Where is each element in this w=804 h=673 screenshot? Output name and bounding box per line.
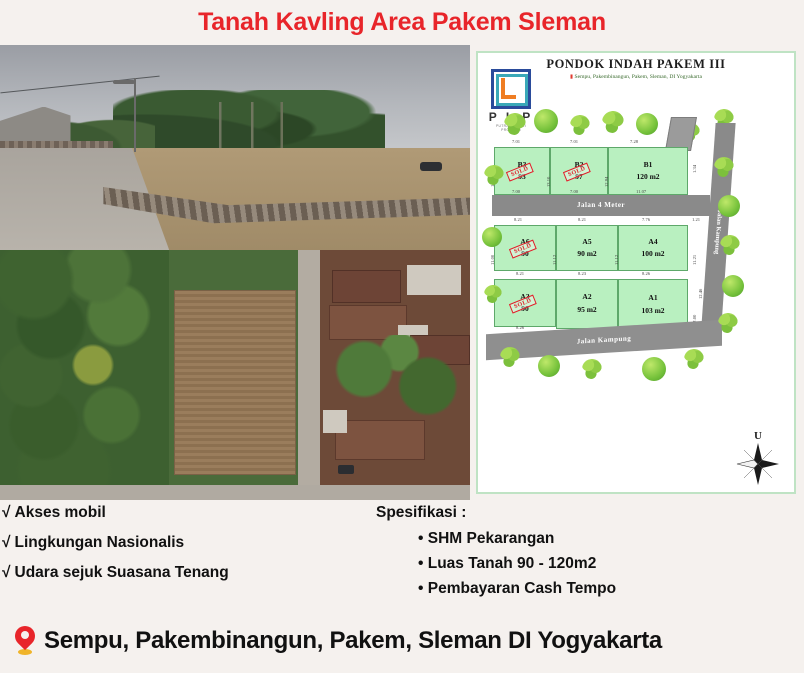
aerial-tree-canopy — [0, 250, 169, 500]
tree-icon — [482, 227, 502, 247]
dim-top-3: 7.28 — [630, 139, 638, 144]
tree-icon — [538, 355, 560, 377]
road-jalan-4-meter-label: Jalan 4 Meter — [492, 195, 710, 216]
aerial-land-plot — [174, 290, 296, 475]
specifications-block: Spesifikasi : • SHM Pekarangan • Luas Ta… — [372, 500, 804, 608]
dim-b-bottom-3: 11.07 — [636, 189, 646, 194]
dim-a-bottom-2: 8.23 — [578, 271, 586, 276]
street-lamp-arm — [113, 80, 135, 84]
tree-icon — [484, 165, 504, 185]
tree-icon — [636, 113, 658, 135]
tree-icon — [582, 359, 602, 379]
plot-b1-area: 120 m2 — [609, 172, 687, 181]
road-jalan-4-meter: Jalan 4 Meter — [492, 195, 710, 216]
house-roof — [332, 270, 401, 303]
check-icon: √ — [2, 564, 11, 581]
parked-car — [420, 162, 442, 171]
tree-icon — [570, 115, 590, 135]
land-ground-view-photo — [0, 45, 470, 250]
existing-building — [665, 117, 697, 151]
siteplan-plot-layout: 7.01 7.01 7.28 B3 93 SOLD B2 97 SOLD B1 … — [486, 99, 786, 482]
page-title-bar: Tanah Kavling Area Pakem Sleman — [0, 0, 804, 45]
road-jalan-kampung-right: Jalan Kampung — [700, 123, 735, 341]
plot-b1[interactable]: B1 120 m2 — [608, 147, 688, 195]
plot-a1-area: 103 m2 — [619, 306, 687, 315]
feature-label: Akses mobil — [15, 504, 106, 521]
dim-a-bottom-3: 8.26 — [642, 271, 650, 276]
feature-item: √Akses mobil — [2, 504, 372, 522]
plot-b2[interactable]: B2 97 SOLD — [550, 147, 608, 195]
tree-icon — [500, 347, 520, 367]
dim-b-side-3: 12.94 — [604, 177, 609, 187]
dim-a-mid-1: 11.00 — [490, 255, 495, 265]
plot-a5-area: 90 m2 — [557, 249, 617, 258]
plot-a5-code: A5 — [557, 237, 617, 246]
dim-top-1: 7.01 — [512, 139, 520, 144]
aerial-garden-vegetation — [329, 335, 470, 420]
compass-rose: U — [732, 430, 784, 486]
plot-a2[interactable]: A2 95 m2 — [556, 279, 618, 329]
aerial-village-road — [298, 250, 322, 500]
features-list: √Akses mobil √Lingkungan Nasionalis √Uda… — [0, 500, 372, 608]
plot-a2-code: A2 — [557, 292, 617, 301]
spec-item: • SHM Pekarangan — [418, 530, 804, 548]
dim-a-top-1: 8.21 — [514, 217, 522, 222]
dim-a-mid-4: 11.21 — [692, 255, 697, 265]
spec-label: Pembayaran Cash Tempo — [428, 580, 616, 597]
page-title: Tanah Kavling Area Pakem Sleman — [198, 8, 606, 37]
dim-b-side-4: 1.34 — [692, 165, 697, 173]
dim-a-bottom-1: 8.21 — [516, 271, 524, 276]
check-icon: √ — [2, 504, 11, 521]
spec-label: Luas Tanah 90 - 120m2 — [428, 555, 597, 572]
dim-b-side-2: 13.10 — [546, 177, 551, 187]
main-content: PONDOK INDAH PAKEM III ▮ Sempu, Pakembin… — [0, 45, 804, 500]
feature-item: √Lingkungan Nasionalis — [2, 534, 372, 552]
siteplan-panel: PONDOK INDAH PAKEM III ▮ Sempu, Pakembin… — [470, 45, 804, 500]
pin-hole — [21, 631, 29, 639]
dim-a-top-3: 7.76 — [642, 217, 650, 222]
dim-top-2: 7.01 — [570, 139, 578, 144]
plot-a3[interactable]: A3 90 SOLD — [494, 279, 556, 327]
house-roof — [407, 265, 461, 295]
check-icon: √ — [2, 534, 11, 551]
tree-icon — [484, 285, 502, 303]
house-roof — [335, 420, 425, 460]
plot-a5[interactable]: A5 90 m2 — [556, 225, 618, 271]
bullet-icon: • — [418, 555, 423, 572]
tree-icon — [718, 313, 738, 333]
dim-a-right-2: 12.46 — [698, 289, 703, 299]
tree-icon — [534, 109, 558, 133]
tree-icon — [642, 357, 666, 381]
specifications-title: Spesifikasi : — [376, 504, 804, 522]
tree-icon — [720, 235, 740, 255]
spec-item: • Luas Tanah 90 - 120m2 — [418, 555, 804, 573]
dim-a-mid-3: 11.12 — [614, 255, 619, 265]
tree-icon — [602, 111, 624, 133]
street-lamp-post — [134, 78, 136, 152]
plot-a1-code: A1 — [619, 293, 687, 302]
siteplan-subtitle-text: Sempu, Pakembinangun, Pakem, Sleman, DI … — [575, 74, 702, 80]
compass-star-icon — [736, 442, 780, 486]
tree-icon — [504, 113, 526, 135]
spec-label: SHM Pekarangan — [428, 530, 555, 547]
tree-icon — [684, 349, 704, 369]
tree-icon — [714, 157, 734, 177]
plot-b1-code: B1 — [609, 160, 687, 169]
dim-b-bottom-1: 7.00 — [512, 189, 520, 194]
map-pin-icon: ▮ — [570, 74, 573, 80]
dim-a-top-4: 1.21 — [692, 217, 700, 222]
plot-a4[interactable]: A4 100 m2 — [618, 225, 688, 271]
plot-a6[interactable]: A6 90 SOLD — [494, 225, 556, 271]
footer-address: Sempu, Pakembinangun, Pakem, Sleman DI Y… — [44, 627, 662, 655]
logo-l-shape — [501, 78, 516, 99]
dim-a-mid-2: 11.12 — [552, 255, 557, 265]
dim-b-bottom-2: 7.00 — [570, 189, 578, 194]
dim-a3-row-1: 8.26 — [516, 325, 524, 330]
bullet-icon: • — [418, 530, 423, 547]
info-section: √Akses mobil √Lingkungan Nasionalis √Uda… — [0, 500, 804, 608]
footer-address-bar: Sempu, Pakembinangun, Pakem, Sleman DI Y… — [0, 608, 804, 673]
aerial-foreground-road — [0, 485, 470, 500]
siteplan-canvas: PONDOK INDAH PAKEM III ▮ Sempu, Pakembin… — [476, 51, 796, 494]
land-aerial-view-photo — [0, 250, 470, 500]
tree-icon — [718, 195, 740, 217]
plot-a4-code: A4 — [619, 237, 687, 246]
compass-north-label: U — [732, 430, 784, 442]
feature-item: √Udara sejuk Suasana Tenang — [2, 564, 372, 582]
tree-icon — [722, 275, 744, 297]
location-pin-icon — [14, 626, 36, 656]
plot-a4-area: 100 m2 — [619, 249, 687, 258]
spec-item: • Pembayaran Cash Tempo — [418, 580, 804, 598]
feature-label: Lingkungan Nasionalis — [15, 534, 185, 551]
photo-column — [0, 45, 470, 500]
aerial-parked-car — [338, 465, 354, 474]
plot-a2-area: 95 m2 — [557, 305, 617, 314]
bullet-icon: • — [418, 580, 423, 597]
dim-a-top-2: 8.21 — [578, 217, 586, 222]
feature-label: Udara sejuk Suasana Tenang — [15, 564, 229, 581]
